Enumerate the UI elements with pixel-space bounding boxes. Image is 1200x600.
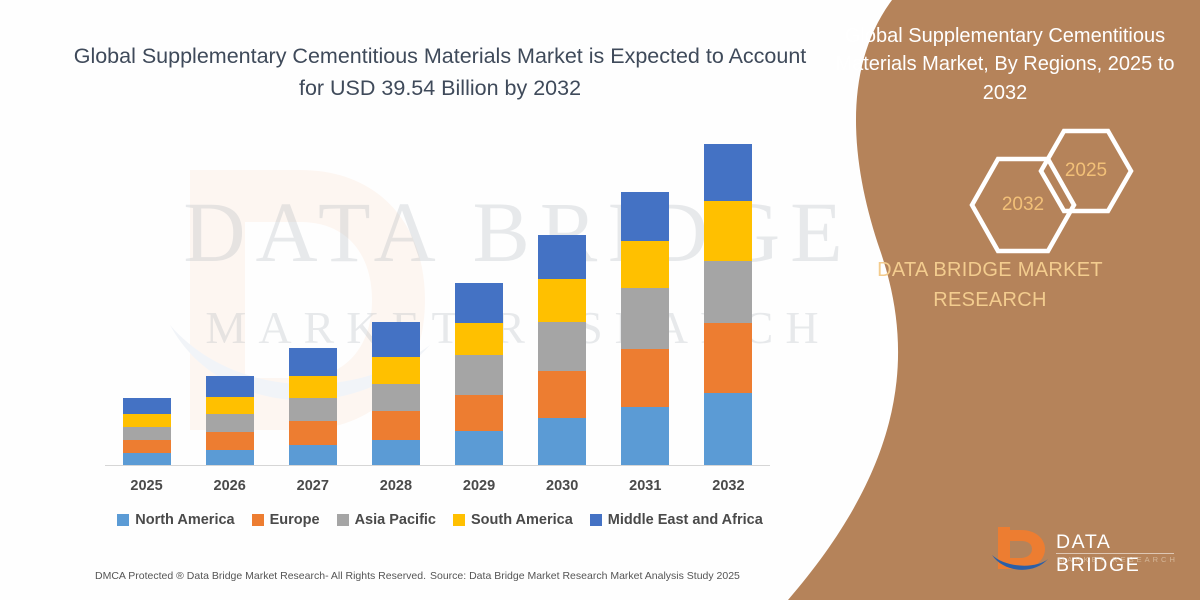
bar-segment-asia-pacific xyxy=(372,384,420,412)
legend-item-europe[interactable]: Europe xyxy=(252,512,320,528)
plot-area xyxy=(105,140,770,466)
logo-wordmark: DATA BRIDGE xyxy=(1056,531,1180,577)
legend-swatch-icon xyxy=(117,514,129,526)
bar-segment-north-america xyxy=(621,407,669,466)
bar-2028[interactable] xyxy=(372,322,420,466)
bar-segment-south-america xyxy=(621,241,669,288)
legend-item-asia-pacific[interactable]: Asia Pacific xyxy=(337,512,436,528)
legend-swatch-icon xyxy=(337,514,349,526)
legend-label: Europe xyxy=(270,512,320,528)
bar-segment-south-america xyxy=(372,357,420,384)
legend-swatch-icon xyxy=(252,514,264,526)
bar-2032[interactable] xyxy=(704,144,752,466)
bar-segment-middle-east-and-africa xyxy=(538,235,586,279)
legend-swatch-icon xyxy=(453,514,465,526)
x-tick-2027: 2027 xyxy=(277,478,349,494)
bar-segment-middle-east-and-africa xyxy=(206,376,254,397)
x-tick-2031: 2031 xyxy=(609,478,681,494)
bar-segment-middle-east-and-africa xyxy=(372,322,420,357)
bar-segment-north-america xyxy=(372,440,420,466)
bar-segment-asia-pacific xyxy=(206,414,254,432)
bar-segment-europe xyxy=(704,323,752,392)
logo-divider xyxy=(1056,553,1174,554)
branding-panel: Global Supplementary Cementitious Materi… xyxy=(780,0,1200,600)
bar-segment-asia-pacific xyxy=(704,261,752,323)
x-tick-2029: 2029 xyxy=(443,478,515,494)
bar-segment-europe xyxy=(621,349,669,407)
bar-segment-middle-east-and-africa xyxy=(289,348,337,376)
brand-name: DATA BRIDGE MARKET RESEARCH xyxy=(820,255,1160,315)
bar-segment-north-america xyxy=(289,445,337,466)
legend-swatch-icon xyxy=(590,514,602,526)
bar-segment-north-america xyxy=(538,418,586,466)
bar-segment-south-america xyxy=(289,376,337,399)
chart-panel: DATA BRIDGE MARKET RESEARCH Global Suppl… xyxy=(0,0,880,600)
footer-dmca-notice: DMCA Protected ® Data Bridge Market Rese… xyxy=(95,570,426,582)
hexagon-badge-2032-label: 2032 xyxy=(1002,194,1044,216)
logo-mark-icon xyxy=(990,525,1050,575)
bar-segment-europe xyxy=(455,395,503,431)
bar-segment-south-america xyxy=(538,279,586,322)
bar-segment-asia-pacific xyxy=(289,398,337,421)
bar-2027[interactable] xyxy=(289,348,337,466)
legend-item-south-america[interactable]: South America xyxy=(453,512,573,528)
hexagon-badge-2025: 2025 xyxy=(1038,127,1134,215)
bar-segment-middle-east-and-africa xyxy=(123,398,171,414)
x-tick-2032: 2032 xyxy=(692,478,764,494)
bar-2029[interactable] xyxy=(455,283,503,466)
bar-segment-middle-east-and-africa xyxy=(704,144,752,201)
page-title: Global Supplementary Cementitious Materi… xyxy=(60,40,820,105)
legend-label: South America xyxy=(471,512,573,528)
bar-segment-europe xyxy=(538,371,586,417)
data-bridge-logo: DATA BRIDGE MARKET RESEARCH xyxy=(990,525,1180,577)
x-axis-line xyxy=(105,465,770,466)
bar-2025[interactable] xyxy=(123,398,171,466)
legend-label: Middle East and Africa xyxy=(608,512,763,528)
panel-title: Global Supplementary Cementitious Materi… xyxy=(830,22,1180,107)
x-tick-2030: 2030 xyxy=(526,478,598,494)
bar-segment-europe xyxy=(206,432,254,450)
bar-segment-south-america xyxy=(704,201,752,261)
bar-segment-north-america xyxy=(704,393,752,466)
bar-2026[interactable] xyxy=(206,376,254,466)
footer-source-note: Source: Data Bridge Market Research Mark… xyxy=(430,570,740,582)
bar-segment-asia-pacific xyxy=(123,427,171,440)
x-axis-labels: 20252026202720282029203020312032 xyxy=(105,478,770,500)
bar-segment-asia-pacific xyxy=(621,288,669,348)
legend-label: North America xyxy=(135,512,234,528)
chart-legend: North AmericaEuropeAsia PacificSouth Ame… xyxy=(105,512,775,528)
logo-tagline: MARKET RESEARCH xyxy=(1058,555,1178,564)
legend-item-north-america[interactable]: North America xyxy=(117,512,234,528)
bar-2030[interactable] xyxy=(538,235,586,466)
bar-segment-europe xyxy=(123,440,171,453)
bar-segment-south-america xyxy=(206,397,254,414)
bar-segment-middle-east-and-africa xyxy=(621,192,669,241)
bar-segment-north-america xyxy=(206,450,254,466)
hexagon-badge-2025-label: 2025 xyxy=(1065,160,1107,182)
bar-segment-asia-pacific xyxy=(538,322,586,372)
bar-segment-south-america xyxy=(123,414,171,427)
bar-segment-north-america xyxy=(455,431,503,466)
bar-segment-asia-pacific xyxy=(455,355,503,395)
x-tick-2028: 2028 xyxy=(360,478,432,494)
x-tick-2025: 2025 xyxy=(111,478,183,494)
legend-item-middle-east-and-africa[interactable]: Middle East and Africa xyxy=(590,512,763,528)
bar-segment-europe xyxy=(289,421,337,445)
x-tick-2026: 2026 xyxy=(194,478,266,494)
bar-segment-south-america xyxy=(455,323,503,356)
bar-segment-europe xyxy=(372,411,420,440)
bar-2031[interactable] xyxy=(621,192,669,466)
legend-label: Asia Pacific xyxy=(355,512,436,528)
bar-segment-middle-east-and-africa xyxy=(455,283,503,323)
